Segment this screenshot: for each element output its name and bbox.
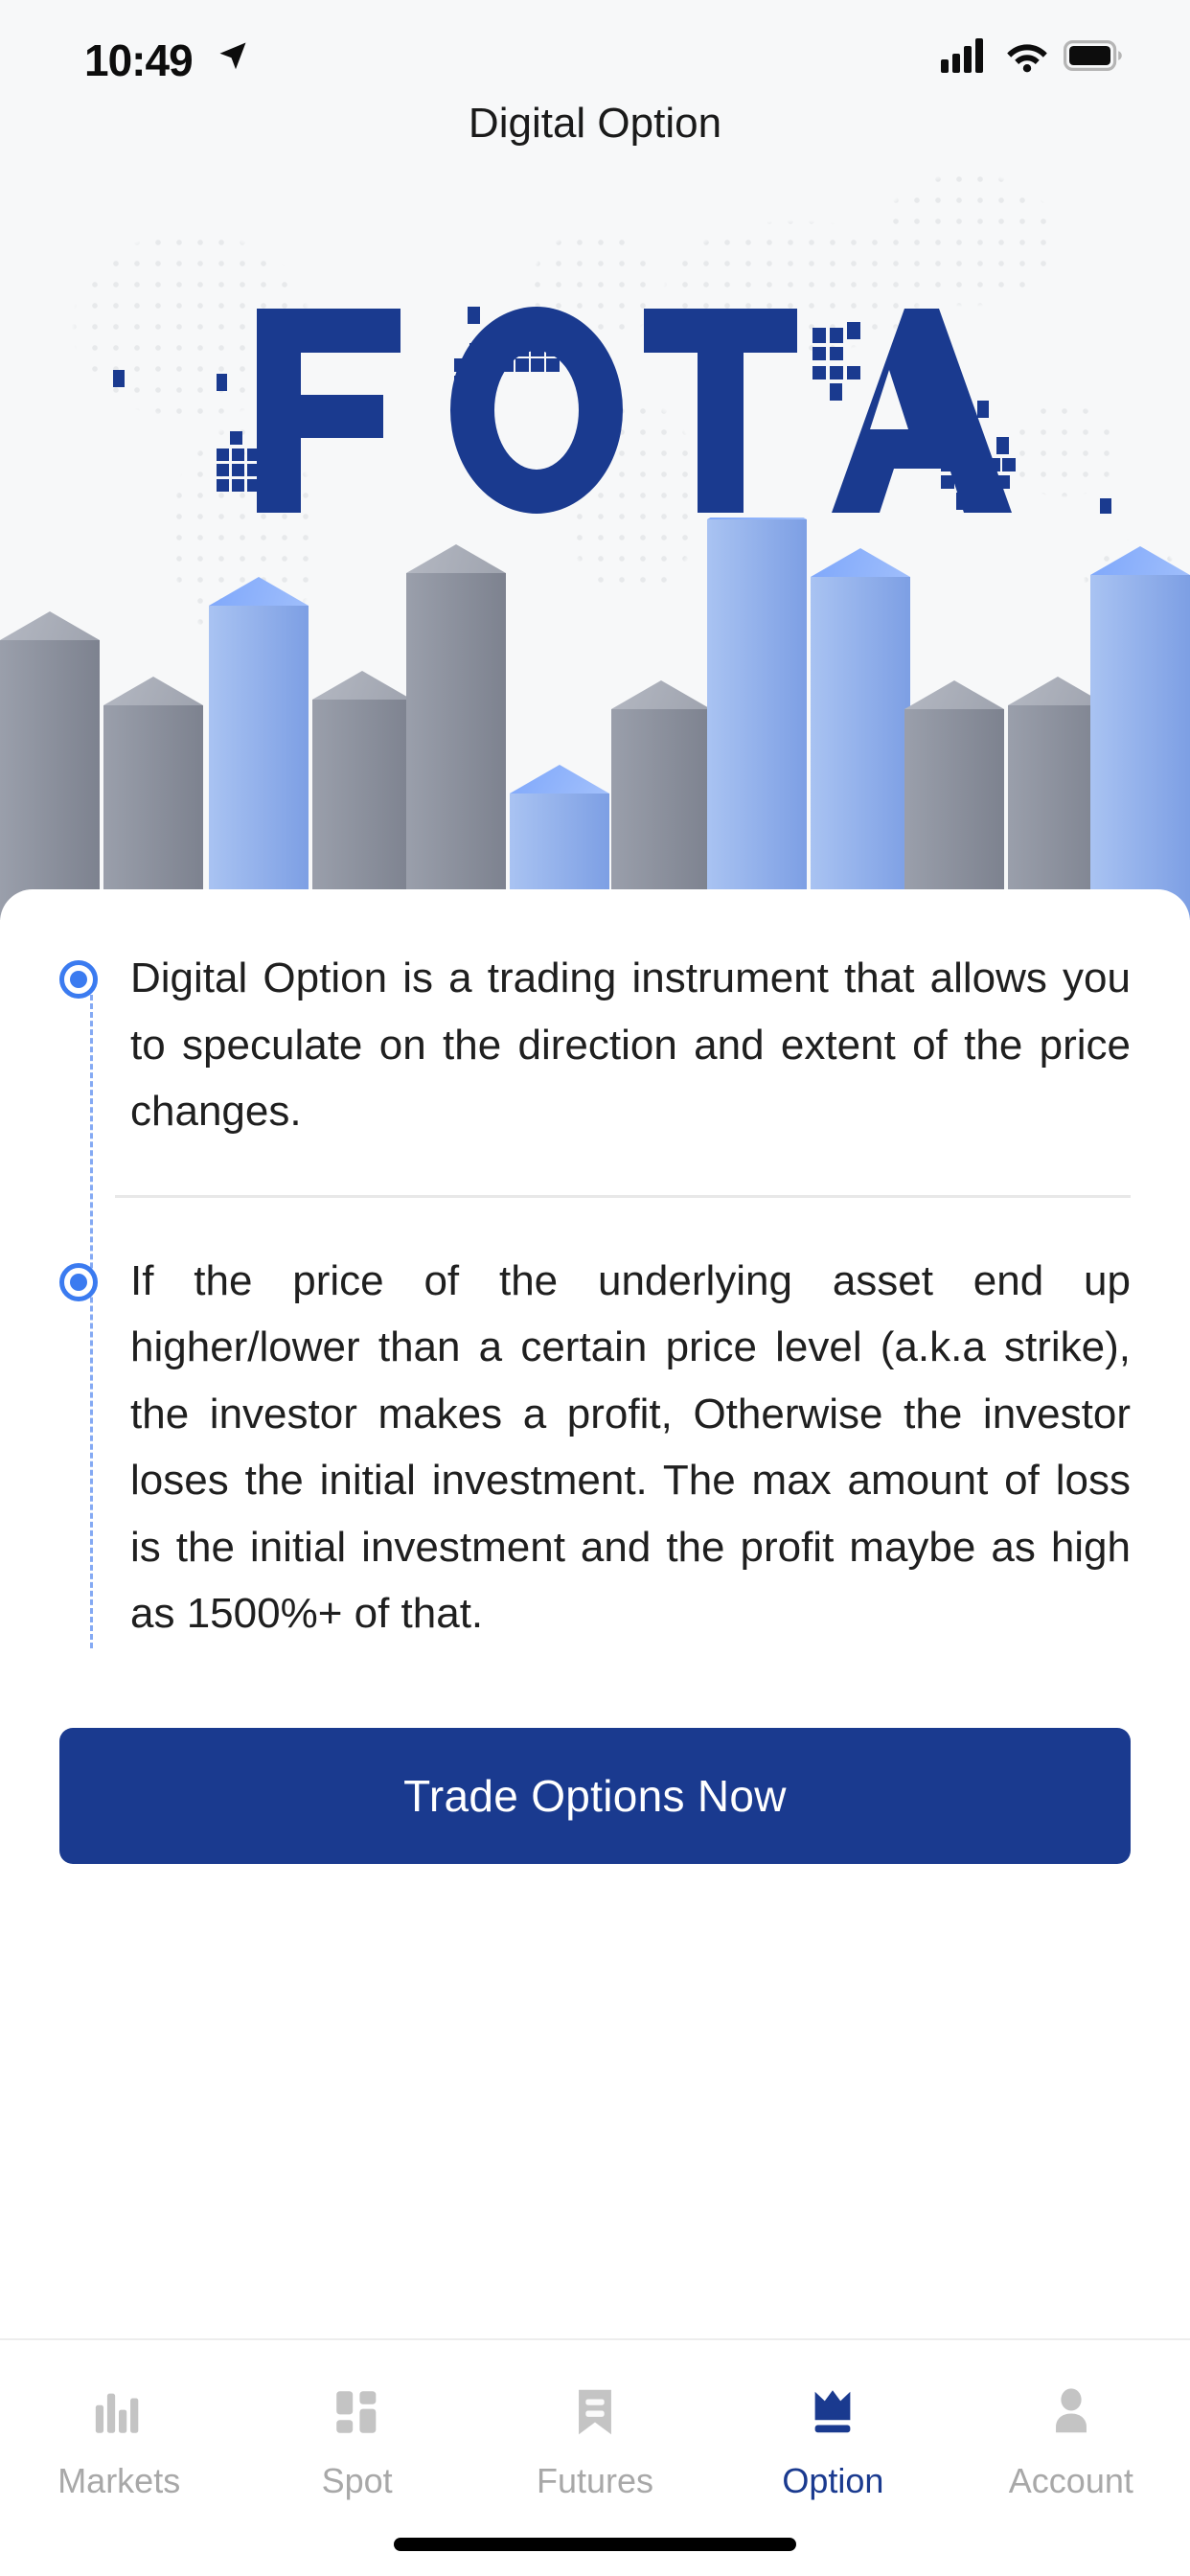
list-item: If the price of the underlying asset end…	[59, 1248, 1131, 1647]
trade-options-now-button[interactable]: Trade Options Now	[59, 1728, 1131, 1864]
status-bar-time: 10:49	[84, 34, 193, 86]
tab-label: Spot	[322, 2461, 393, 2501]
battery-icon	[1064, 40, 1123, 71]
info-item-text: Digital Option is a trading instrument t…	[130, 945, 1131, 1145]
bookmark-icon	[567, 2379, 623, 2440]
status-bar: 10:49	[0, 0, 1190, 115]
tab-spot[interactable]: Spot	[238, 2379, 475, 2501]
info-card: Digital Option is a trading instrument t…	[0, 889, 1190, 2327]
info-list: Digital Option is a trading instrument t…	[0, 889, 1190, 1647]
status-bar-indicators	[941, 38, 1123, 73]
tab-label: Option	[782, 2461, 883, 2501]
app-screen: 10:49 Digital Op	[0, 0, 1190, 2576]
fota-logo-svg	[0, 287, 1190, 527]
location-arrow-icon	[216, 38, 250, 78]
info-item-text: If the price of the underlying asset end…	[130, 1248, 1131, 1647]
cellular-signal-icon	[941, 38, 991, 73]
home-indicator	[394, 2538, 796, 2551]
radio-bullet-icon	[59, 1263, 98, 1301]
skyline-svg	[0, 517, 1190, 920]
tab-option[interactable]: Option	[714, 2379, 951, 2501]
list-item: Digital Option is a trading instrument t…	[59, 945, 1131, 1145]
tab-label: Markets	[57, 2461, 180, 2501]
bar-chart-icon	[91, 2379, 147, 2440]
tab-markets[interactable]: Markets	[0, 2379, 238, 2501]
fota-logo	[0, 287, 1190, 527]
option-crown-icon	[805, 2379, 860, 2440]
person-icon	[1043, 2379, 1099, 2440]
tab-label: Account	[1009, 2461, 1133, 2501]
tab-label: Futures	[537, 2461, 653, 2501]
divider	[115, 1195, 1131, 1198]
skyline-bar-graphic	[0, 517, 1190, 920]
tab-account[interactable]: Account	[952, 2379, 1190, 2501]
tab-futures[interactable]: Futures	[476, 2379, 714, 2501]
radio-bullet-icon	[59, 960, 98, 999]
wifi-icon	[1004, 38, 1050, 73]
grid-blocks-icon	[330, 2379, 385, 2440]
